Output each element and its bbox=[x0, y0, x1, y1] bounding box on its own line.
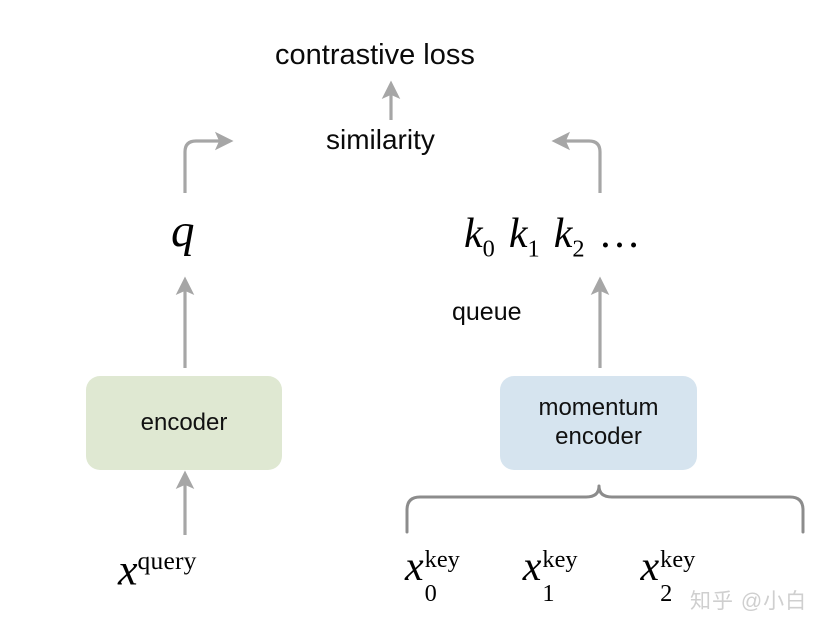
k1-symbol: k1 bbox=[509, 211, 540, 257]
k0-symbol: k0 bbox=[464, 211, 495, 257]
q-symbol: q bbox=[171, 208, 195, 255]
x0-key-symbol: xkey0 bbox=[405, 544, 489, 590]
watermark: 知乎 @小白 bbox=[690, 585, 807, 615]
q-variable: q bbox=[171, 205, 195, 257]
x-query-symbol: xquery bbox=[118, 548, 197, 593]
encoder-box-label: encoder bbox=[141, 409, 228, 438]
query-superscript: query bbox=[138, 546, 197, 575]
contrastive-loss-label: contrastive loss bbox=[275, 41, 475, 70]
k2-symbol: k2 bbox=[554, 211, 585, 257]
diagram-canvas bbox=[0, 0, 826, 634]
momentum-encoder-box[interactable]: momentumencoder bbox=[500, 376, 697, 470]
key-symbols-row: k0k1k2… bbox=[464, 213, 655, 262]
brace-xkeys bbox=[407, 486, 803, 532]
x1-key-symbol: xkey1 bbox=[523, 544, 607, 590]
encoder-box[interactable]: encoder bbox=[86, 376, 282, 470]
x2-key-symbol: xkey2 bbox=[641, 544, 725, 590]
ellipsis-symbol: … bbox=[599, 211, 641, 257]
edge-q-to-similarity bbox=[185, 141, 222, 193]
queue-label: queue bbox=[452, 300, 522, 325]
x-key-symbols-row: xkey0xkey1xkey2 bbox=[405, 546, 758, 588]
edge-k-to-similarity bbox=[563, 141, 600, 193]
similarity-label: similarity bbox=[326, 126, 435, 154]
momentum-encoder-box-label: momentumencoder bbox=[538, 394, 658, 452]
